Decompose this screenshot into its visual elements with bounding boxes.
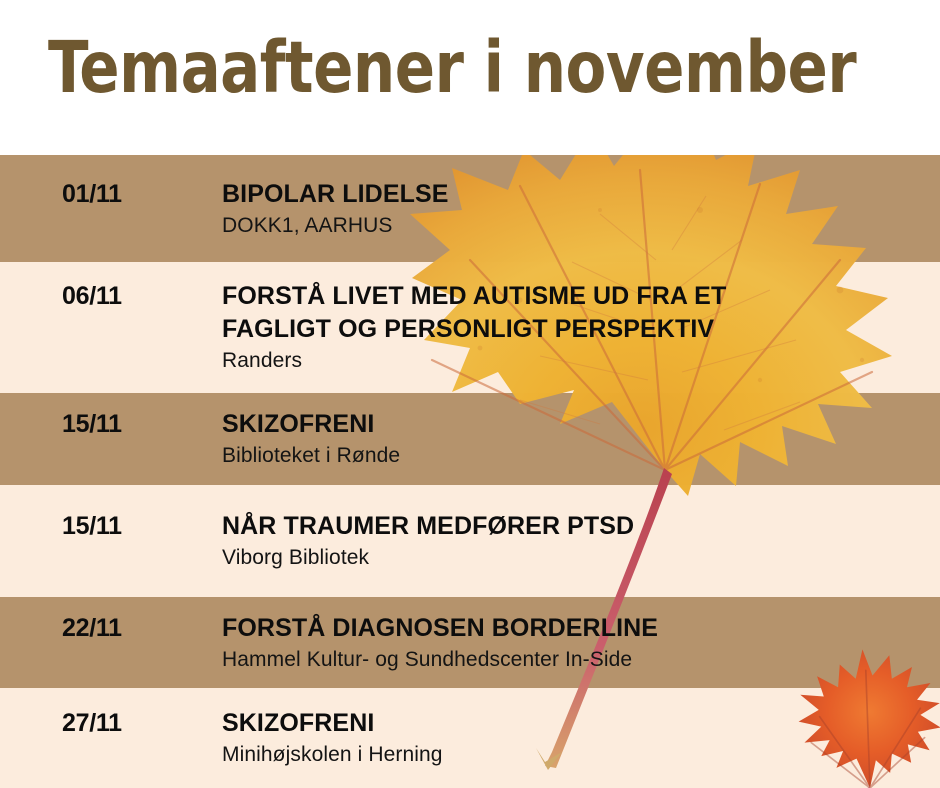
event-body: SKIZOFRENIMinihøjskolen i Herning <box>222 707 922 769</box>
event-location: Viborg Bibliotek <box>222 544 922 572</box>
schedule-row[interactable]: 15/11SKIZOFRENIBiblioteket i Rønde <box>0 393 940 485</box>
event-title: SKIZOFRENI <box>222 408 922 441</box>
schedule-row[interactable]: 22/11FORSTÅ DIAGNOSEN BORDERLINEHammel K… <box>0 597 940 688</box>
schedule-row[interactable]: 01/11BIPOLAR LIDELSEDOKK1, AARHUS <box>0 155 940 262</box>
page-title: Temaaftener i november <box>48 30 856 106</box>
event-date: 27/11 <box>62 709 212 738</box>
event-body: SKIZOFRENIBiblioteket i Rønde <box>222 408 922 470</box>
event-body: BIPOLAR LIDELSEDOKK1, AARHUS <box>222 178 922 240</box>
event-location: DOKK1, AARHUS <box>222 212 922 240</box>
event-date: 06/11 <box>62 282 212 311</box>
poster-header: Temaaftener i november <box>0 0 940 155</box>
event-body: FORSTÅ DIAGNOSEN BORDERLINEHammel Kultur… <box>222 612 922 674</box>
event-date: 22/11 <box>62 614 212 643</box>
event-title: FORSTÅ LIVET MED AUTISME UD FRA ET FAGLI… <box>222 280 922 346</box>
event-location: Biblioteket i Rønde <box>222 442 922 470</box>
event-title: BIPOLAR LIDELSE <box>222 178 922 211</box>
event-location: Randers <box>222 347 922 375</box>
event-date: 01/11 <box>62 180 212 209</box>
schedule-row[interactable]: 27/11SKIZOFRENIMinihøjskolen i Herning <box>0 688 940 788</box>
schedule-row[interactable]: 15/11NÅR TRAUMER MEDFØRER PTSDViborg Bib… <box>0 485 940 597</box>
event-location: Hammel Kultur- og Sundhedscenter In-Side <box>222 646 922 674</box>
event-body: FORSTÅ LIVET MED AUTISME UD FRA ET FAGLI… <box>222 280 922 375</box>
event-location: Minihøjskolen i Herning <box>222 741 922 769</box>
poster-canvas: 01/11BIPOLAR LIDELSEDOKK1, AARHUS06/11FO… <box>0 0 940 788</box>
event-date: 15/11 <box>62 410 212 439</box>
event-body: NÅR TRAUMER MEDFØRER PTSDViborg Bibliote… <box>222 510 922 572</box>
schedule-row[interactable]: 06/11FORSTÅ LIVET MED AUTISME UD FRA ET … <box>0 262 940 393</box>
event-date: 15/11 <box>62 512 212 541</box>
event-title: SKIZOFRENI <box>222 707 922 740</box>
event-title: FORSTÅ DIAGNOSEN BORDERLINE <box>222 612 922 645</box>
event-title: NÅR TRAUMER MEDFØRER PTSD <box>222 510 922 543</box>
